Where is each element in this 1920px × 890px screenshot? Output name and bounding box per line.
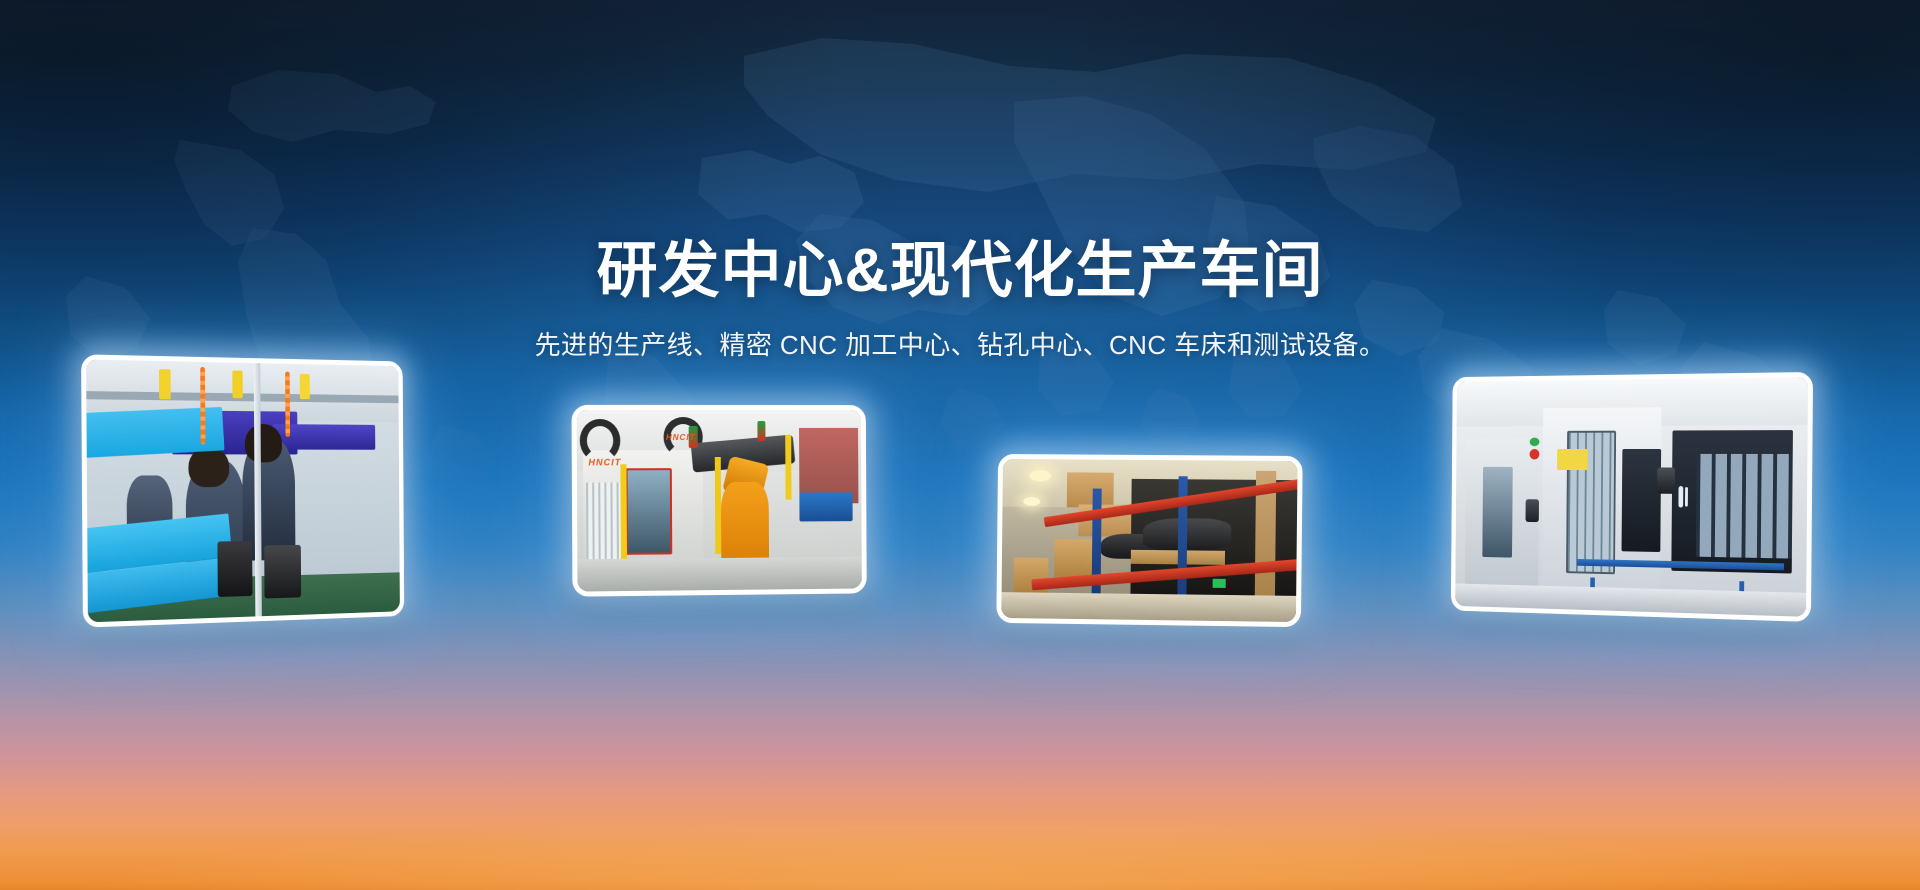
photo-assembly-line [86,360,400,623]
hero-banner: 研发中心&现代化生产车间 先进的生产线、精密 CNC 加工中心、钻孔中心、CNC… [0,0,1920,890]
page-subtitle: 先进的生产线、精密 CNC 加工中心、钻孔中心、CNC 车床和测试设备。 [0,325,1920,362]
page-title: 研发中心&现代化生产车间 [0,238,1920,303]
hero-text-block: 研发中心&现代化生产车间 先进的生产线、精密 CNC 加工中心、钻孔中心、CNC… [0,238,1920,362]
gallery-card-cnc-robot[interactable]: HNCIT HNCIT [571,405,866,597]
machine-brand-label-right: HNCIT [666,433,696,442]
photo-cnc-robot: HNCIT HNCIT [577,410,862,592]
gallery-card-assembly-line[interactable] [81,354,404,627]
photo-cnc-room [1455,377,1808,617]
photo-warehouse [1001,459,1297,622]
photo-gallery: HNCIT HNCIT [0,0,1920,890]
gallery-card-warehouse[interactable] [996,454,1302,627]
gallery-card-cnc-room[interactable] [1451,372,1813,622]
machine-brand-label-left: HNCIT [588,457,621,467]
